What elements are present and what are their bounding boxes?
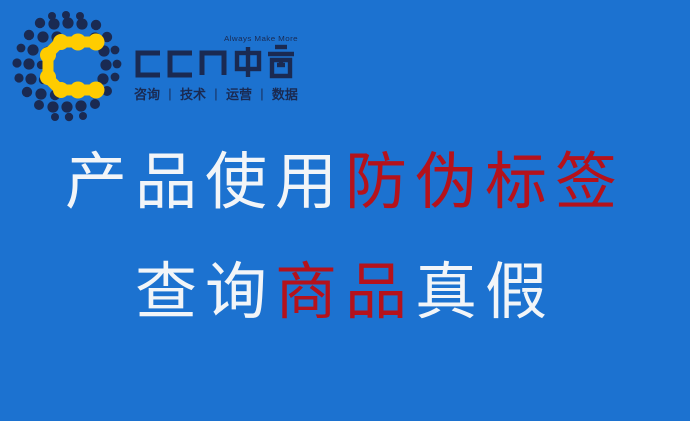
headline-line-1: 产品使用防伪标签: [0, 152, 690, 214]
brand-service-item-0[interactable]: 咨询: [134, 84, 160, 103]
promo-banner: Always Make More: [0, 0, 690, 421]
brand-service-separator-2: |: [259, 86, 264, 101]
brand-service-separator-1: |: [213, 86, 218, 101]
brand-wordmark-group: Always Make More: [128, 22, 300, 108]
brand-service-list: 咨询 | 技术 | 运营 | 数据: [134, 84, 298, 103]
headline-line-1-red-text: 防伪标签: [345, 149, 625, 217]
brand-service-item-1[interactable]: 技术: [180, 84, 206, 103]
brand-wordmark-ccn-zhongshang-icon: [130, 44, 298, 80]
brand-tagline: Always Make More: [224, 34, 298, 43]
headline-line-1-white-text: 产品使用: [65, 149, 345, 217]
headline-line-2: 查询商品真假: [0, 262, 690, 324]
headline-line-2-white-tail-text: 真假: [415, 259, 555, 327]
brand-service-item-3[interactable]: 数据: [272, 84, 298, 103]
brand-service-item-2[interactable]: 运营: [226, 84, 252, 103]
ccn-dot-circle-c-mark-icon: [10, 10, 122, 122]
brand-service-separator-0: |: [167, 86, 172, 101]
headline-line-2-white-lead-text: 查询: [135, 259, 275, 327]
headline-line-2-red-text: 商品: [275, 259, 415, 327]
brand-logo[interactable]: Always Make More: [10, 8, 300, 118]
